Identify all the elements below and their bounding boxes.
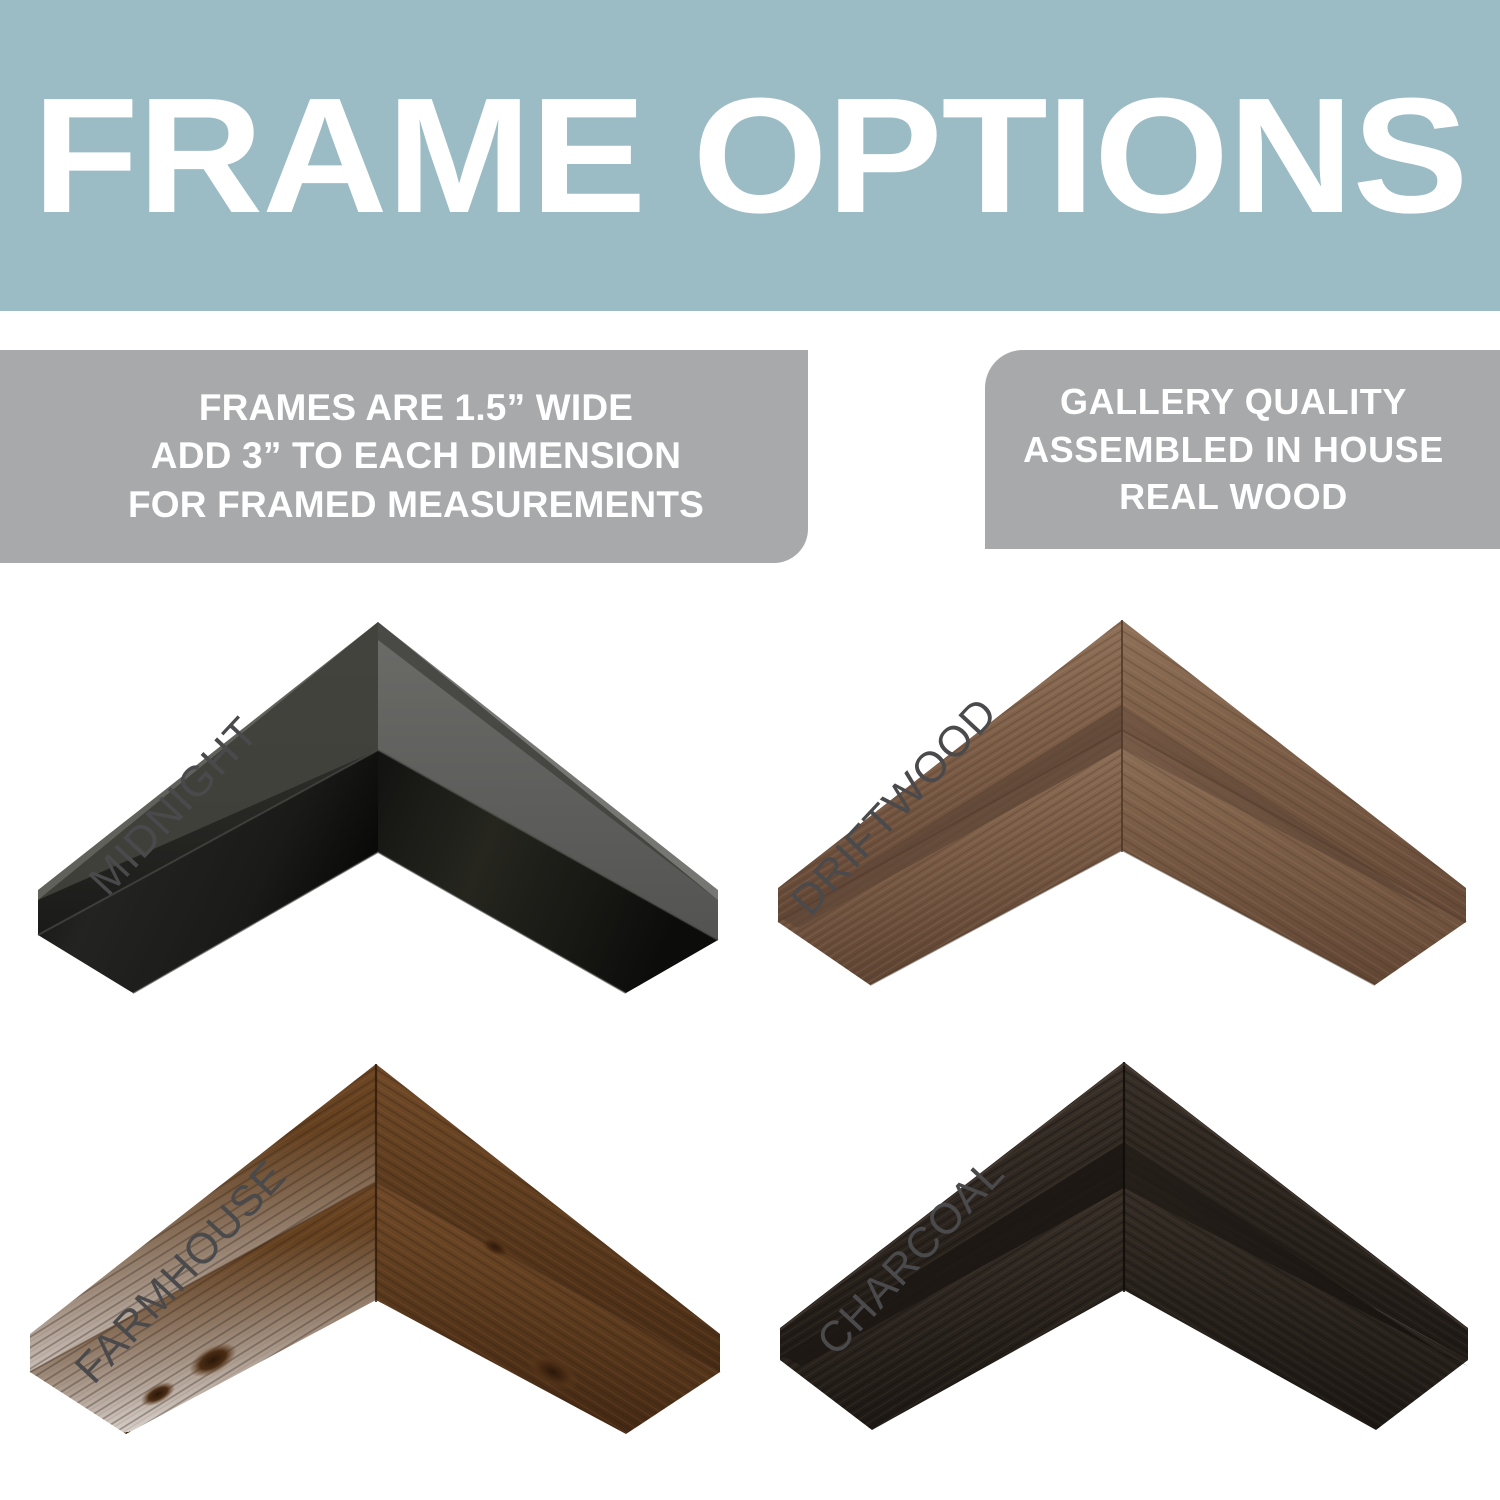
midnight-frame-corner-icon [8, 600, 748, 1000]
info-right-line-2: ASSEMBLED IN HOUSE [1023, 426, 1444, 474]
header-banner: FRAME OPTIONS [0, 0, 1500, 311]
info-left-line-2: ADD 3” TO EACH DIMENSION [151, 432, 681, 480]
info-box-measurements: FRAMES ARE 1.5” WIDE ADD 3” TO EACH DIME… [0, 350, 808, 563]
frame-options-page: FRAME OPTIONS FRAMES ARE 1.5” WIDE ADD 3… [0, 0, 1500, 1500]
info-right-line-3: REAL WOOD [1119, 473, 1348, 521]
frame-sample-midnight[interactable]: MIDNIGHT [8, 600, 748, 1030]
charcoal-frame-corner-icon [760, 1042, 1500, 1442]
farmhouse-frame-corner-icon [8, 1042, 748, 1442]
info-box-quality: GALLERY QUALITY ASSEMBLED IN HOUSE REAL … [985, 350, 1500, 549]
frame-sample-charcoal[interactable]: CHARCOAL [760, 1042, 1500, 1472]
info-right-line-1: GALLERY QUALITY [1060, 378, 1407, 426]
page-title: FRAME OPTIONS [0, 0, 1500, 311]
frame-sample-driftwood[interactable]: DRIFTWOOD [760, 600, 1500, 1030]
info-left-line-3: FOR FRAMED MEASUREMENTS [128, 481, 704, 529]
frame-sample-farmhouse[interactable]: FARMHOUSE [8, 1042, 748, 1472]
info-left-line-1: FRAMES ARE 1.5” WIDE [199, 384, 633, 432]
frame-sample-grid: MIDNIGHT [0, 580, 1500, 1480]
